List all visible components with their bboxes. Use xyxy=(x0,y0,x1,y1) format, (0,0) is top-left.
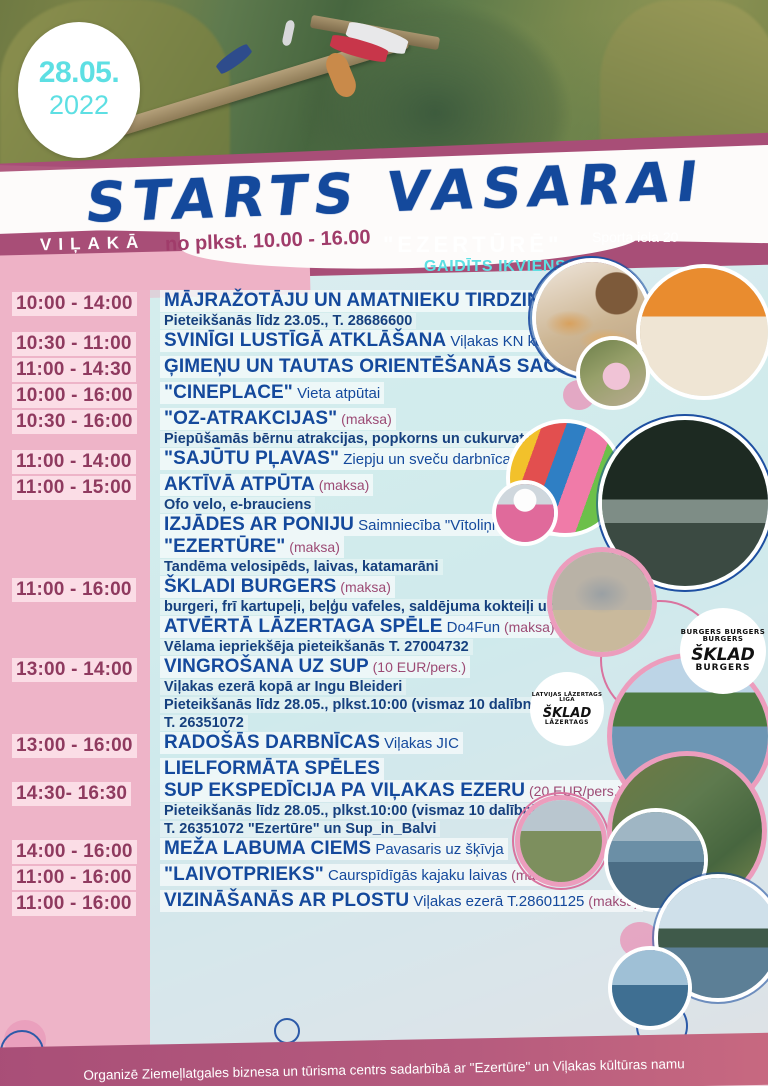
date-day-month: 28.05. xyxy=(39,58,119,88)
schedule-row-price: (maksa) xyxy=(500,619,554,635)
schedule-row-title: SVINĪGI LUSTĪGĀ ATKLĀŠANA xyxy=(164,330,446,351)
schedule-row-note: Vēlama iepriekšēja pieteikšanās T. 27004… xyxy=(160,639,473,655)
sklad-burgers-ring-text: BURGERS BURGERS BURGERS xyxy=(680,629,766,643)
photo-raft-boat xyxy=(612,950,688,1026)
schedule-row-subtitle: Viļakas ezerā T.28601125 xyxy=(409,893,584,910)
schedule-row-note: T. 26351072 xyxy=(160,715,248,731)
schedule-row-note: T. 26351072 "Ezertūre" un Sup_in_Balvi xyxy=(160,821,440,837)
schedule-row-time xyxy=(0,536,150,538)
schedule-row-time: 14:00 - 16:00 xyxy=(0,838,150,864)
schedule-row-main: VINGROŠANA UZ SUP (10 EUR/pers.) xyxy=(160,656,470,678)
schedule-row-title: IZJĀDES AR PONIJU xyxy=(164,514,354,535)
schedule-row-time: 10:30 - 11:00 xyxy=(0,330,150,356)
sklad-burgers-logo: BURGERS BURGERS BURGERS ŠKLAD BURGERS xyxy=(680,608,766,694)
schedule-row-note: Pieteikšanās līdz 28.05., plkst.10:00 (v… xyxy=(160,697,565,713)
schedule-row-price: (maksa) xyxy=(285,539,339,555)
photo-cotton-candy-machine xyxy=(496,484,554,542)
photo-scooters xyxy=(520,800,602,882)
schedule-row-title: SUP EKSPEDĪCIJA PA VIĻAKAS EZERU xyxy=(164,780,525,801)
decor-ring-6 xyxy=(274,1018,300,1044)
schedule-row-note: Tandēma velosipēds, laivas, katamarāni xyxy=(160,559,443,575)
schedule-row-title: "LAIVOTPRIEKS" xyxy=(164,864,324,885)
venue-address: Sporta iela 20 xyxy=(592,229,678,245)
schedule-row-title: MĀJRAŽOTĀJU UN AMATNIEKU TIRDZIŅŠ xyxy=(164,290,554,311)
schedule-row-title: ŠKLADI BURGERS xyxy=(164,576,336,597)
schedule-row-main: MĀJRAŽOTĀJU UN AMATNIEKU TIRDZIŅŠ xyxy=(160,290,558,312)
schedule-row-main: MEŽA LABUMA CIEMS Pavasaris uz šķīvja xyxy=(160,838,508,860)
schedule-row-main: SVINĪGI LUSTĪGĀ ATKLĀŠANA Viļakas KN kol… xyxy=(160,330,590,352)
schedule-row-time xyxy=(0,758,150,760)
schedule-row-main: RADOŠĀS DARBNĪCAS Viļakas JIC xyxy=(160,732,463,754)
schedule-row-subtitle: Viļakas JIC xyxy=(380,735,459,752)
schedule-row-subtitle: Vieta atpūtai xyxy=(293,385,380,402)
schedule-row-time: 11:00 - 15:00 xyxy=(0,474,150,500)
schedule-row-price: (maksa) xyxy=(337,411,391,427)
event-poster: 28.05. 2022 STARTS VASARAI VIĻAKĀ no plk… xyxy=(0,0,768,1086)
schedule-row-time: 11:00 - 16:00 xyxy=(0,864,150,890)
schedule-row-title: VINGROŠANA UZ SUP xyxy=(164,656,369,677)
location-label: VIĻAKĀ xyxy=(40,233,146,256)
schedule-row-price: (maksa) xyxy=(315,477,369,493)
schedule-row-subtitle: Ziepju un sveču darbnīca xyxy=(339,451,511,468)
schedule-row-time: 11:00 - 14:00 xyxy=(0,448,150,474)
schedule-row-time: 11:00 - 16:00 xyxy=(0,576,150,602)
sklad-lazertag-sub-text: LĀZERTAGS xyxy=(530,720,604,726)
schedule-row-note: Pieteikšanās līdz 28.05., plkst.10:00 (v… xyxy=(160,803,565,819)
schedule-row-title: "SAJŪTU PĻAVAS" xyxy=(164,448,339,469)
schedule-row-main: "SAJŪTU PĻAVAS" Ziepju un sveču darbnīca xyxy=(160,448,515,470)
schedule-row-note: Viļakas ezerā kopā ar Ingu Bleideri xyxy=(160,679,406,695)
schedule-row-main: ATVĒRTĀ LĀZERTAGA SPĒLE Do4Fun (maksa) xyxy=(160,616,559,638)
sklad-lazertag-logo: LATVIJAS LĀZERTAGS LIGA ŠKLAD LĀZERTAGS xyxy=(530,672,604,746)
schedule-row-time xyxy=(0,616,150,618)
schedule-row-main: LIELFORMĀTA SPĒLES xyxy=(160,758,384,780)
schedule-row-title: "OZ-ATRAKCIJAS" xyxy=(164,408,337,429)
schedule-row-price: (maksa) xyxy=(336,579,390,595)
schedule-row-time: 13:00 - 14:00 xyxy=(0,656,150,682)
schedule-row: 10:00 - 16:00"CINEPLACE" Vieta atpūtai xyxy=(0,382,768,408)
schedule-row-time: 14:30- 16:30 xyxy=(0,780,150,806)
photo-honey-jars-market xyxy=(640,268,768,396)
schedule-row-subtitle: Saimniecība "Vītoliņi" xyxy=(354,517,501,534)
photo-pony xyxy=(552,552,652,652)
schedule-row-note: Ofo velo, e-brauciens xyxy=(160,497,315,513)
schedule-row-main: AKTĪVĀ ATPŪTA (maksa) xyxy=(160,474,373,496)
sklad-lazertag-ring-text: LATVIJAS LĀZERTAGS LIGA xyxy=(530,693,604,704)
venue-name: "EZERTŪRĒ" xyxy=(383,232,562,258)
schedule-row-price: (10 EUR/pers.) xyxy=(369,659,466,675)
schedule-row-time: 13:00 - 16:00 xyxy=(0,732,150,758)
schedule-row-time xyxy=(0,514,150,516)
schedule-row-time: 11:00 - 16:00 xyxy=(0,890,150,916)
sklad-burgers-main-text: ŠKLAD xyxy=(680,647,766,664)
schedule-row-subtitle: Do4Fun xyxy=(443,619,501,636)
schedule-row-main: "LAIVOTPRIEKS" Caurspīdīgās kajaku laiva… xyxy=(160,864,566,886)
schedule-row-main: ŠKLADI BURGERS (maksa) xyxy=(160,576,395,598)
schedule-row-note: Pieteikšanās līdz 23.05., T. 28686600 xyxy=(160,313,416,329)
schedule-row-main: "OZ-ATRAKCIJAS" (maksa) xyxy=(160,408,396,430)
photo-cake-dessert xyxy=(580,340,646,406)
date-badge: 28.05. 2022 xyxy=(18,22,140,158)
schedule-row-note: burgeri, frī kartupeļi, beļģu vafeles, s… xyxy=(160,599,618,615)
date-year: 2022 xyxy=(49,90,109,121)
schedule-row-title: AKTĪVĀ ATPŪTA xyxy=(164,474,315,495)
schedule-row-title: "EZERTŪRE" xyxy=(164,536,285,557)
schedule-row-time: 10:00 - 14:00 xyxy=(0,290,150,316)
schedule-row-title: RADOŠĀS DARBNĪCAS xyxy=(164,732,380,753)
schedule-row-time: 10:30 - 16:00 xyxy=(0,408,150,434)
sklad-burgers-sub-text: BURGERS xyxy=(680,664,766,673)
schedule-row-subtitle: Caurspīdīgās kajaku laivas xyxy=(324,867,507,884)
schedule-row-title: LIELFORMĀTA SPĒLES xyxy=(164,758,380,779)
schedule-row-note: Piepūšamās bērnu atrakcijas, popkorns un… xyxy=(160,431,536,447)
schedule-row-time: 10:00 - 16:00 xyxy=(0,382,150,408)
schedule-row-main: "CINEPLACE" Vieta atpūtai xyxy=(160,382,384,404)
schedule-row-title: ATVĒRTĀ LĀZERTAGA SPĒLE xyxy=(164,616,443,637)
schedule-row-time: 11:00 - 14:30 xyxy=(0,356,150,382)
schedule-row-title: VIZINĀŠANĀS AR PLOSTU xyxy=(164,890,409,911)
schedule-row-subtitle: Pavasaris uz šķīvja xyxy=(371,841,504,858)
schedule-row-main: VIZINĀŠANĀS AR PLOSTU Viļakas ezerā T.28… xyxy=(160,890,643,912)
schedule-row-title: MEŽA LABUMA CIEMS xyxy=(164,838,371,859)
schedule-row-title: "CINEPLACE" xyxy=(164,382,293,403)
sklad-lazertag-main-text: ŠKLAD xyxy=(530,707,604,720)
schedule-row-main: "EZERTŪRE" (maksa) xyxy=(160,536,344,558)
